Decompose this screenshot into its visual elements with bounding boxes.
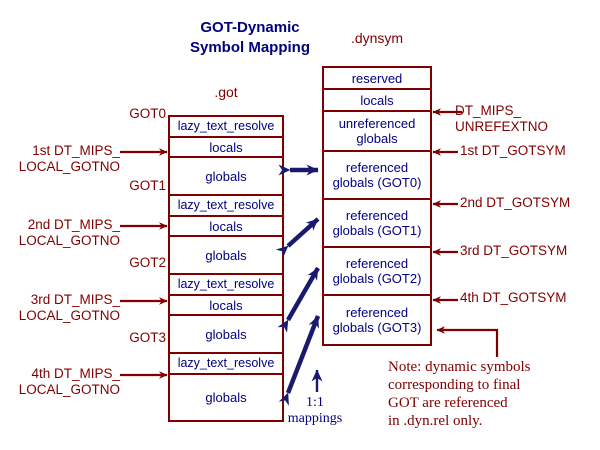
note-text: Note: dynamic symbols corresponding to f… (388, 358, 593, 430)
got-tag-2: GOT2 (108, 255, 166, 270)
dynsym-row-reserved: reserved (324, 68, 430, 90)
dynsym-row-referenced-0: referenced globals (GOT0) (324, 152, 430, 200)
got-row-locals-1: locals (170, 217, 282, 237)
got-tag-3: GOT3 (108, 330, 166, 345)
dynsym-table-caption: .dynsym (322, 30, 432, 46)
dynsym-row-unreferenced: unreferenced globals (324, 112, 430, 152)
dynsym-row-locals: locals (324, 90, 430, 112)
label-unrefextno: DT_MIPS_ UNREFEXTNO (455, 103, 595, 135)
dynsym-table: reserved locals unreferenced globals ref… (322, 66, 432, 346)
got-row-globals-0: globals (170, 158, 282, 196)
got-row-lazy-3: lazy_text_resolve (170, 354, 282, 375)
label-gotsym-2: 2nd DT_GOTSYM (460, 195, 600, 211)
dynsym-row-referenced-1: referenced globals (GOT1) (324, 200, 430, 248)
note-callout-arrow (437, 330, 497, 357)
got-table: lazy_text_resolve locals globals lazy_te… (168, 115, 284, 422)
label-gotsym-1: 1st DT_GOTSYM (460, 143, 600, 159)
dynsym-row-referenced-2: referenced globals (GOT2) (324, 248, 430, 296)
got-tag-1: GOT1 (108, 178, 166, 193)
label-local-gotno-1: 1st DT_MIPS_ LOCAL_GOTNO (2, 143, 120, 175)
dynsym-row-referenced-3: referenced globals (GOT3) (324, 296, 430, 344)
page-title: GOT-Dynamic Symbol Mapping (150, 18, 350, 58)
got-row-lazy-2: lazy_text_resolve (170, 275, 282, 296)
got-row-locals-0: locals (170, 138, 282, 158)
got-row-globals-2: globals (170, 316, 282, 354)
dynsym-gotsym-arrows (433, 112, 462, 300)
label-gotsym-4: 4th DT_GOTSYM (460, 290, 600, 306)
label-local-gotno-3: 3rd DT_MIPS_ LOCAL_GOTNO (2, 292, 120, 324)
got-row-locals-2: locals (170, 296, 282, 316)
got-row-lazy-0: lazy_text_resolve (170, 117, 282, 138)
got-tag-0: GOT0 (108, 106, 166, 121)
label-local-gotno-4: 4th DT_MIPS_ LOCAL_GOTNO (2, 366, 120, 398)
got-dynsym-mapping-arrows (288, 170, 318, 393)
got-row-lazy-1: lazy_text_resolve (170, 196, 282, 217)
one-to-one-mappings-label: 1:1 mappings (280, 395, 350, 427)
got-row-globals-1: globals (170, 237, 282, 275)
got-table-caption: .got (168, 84, 284, 100)
got-row-globals-3: globals (170, 375, 282, 420)
label-gotsym-3: 3rd DT_GOTSYM (460, 243, 600, 259)
label-local-gotno-2: 2nd DT_MIPS_ LOCAL_GOTNO (2, 217, 120, 249)
